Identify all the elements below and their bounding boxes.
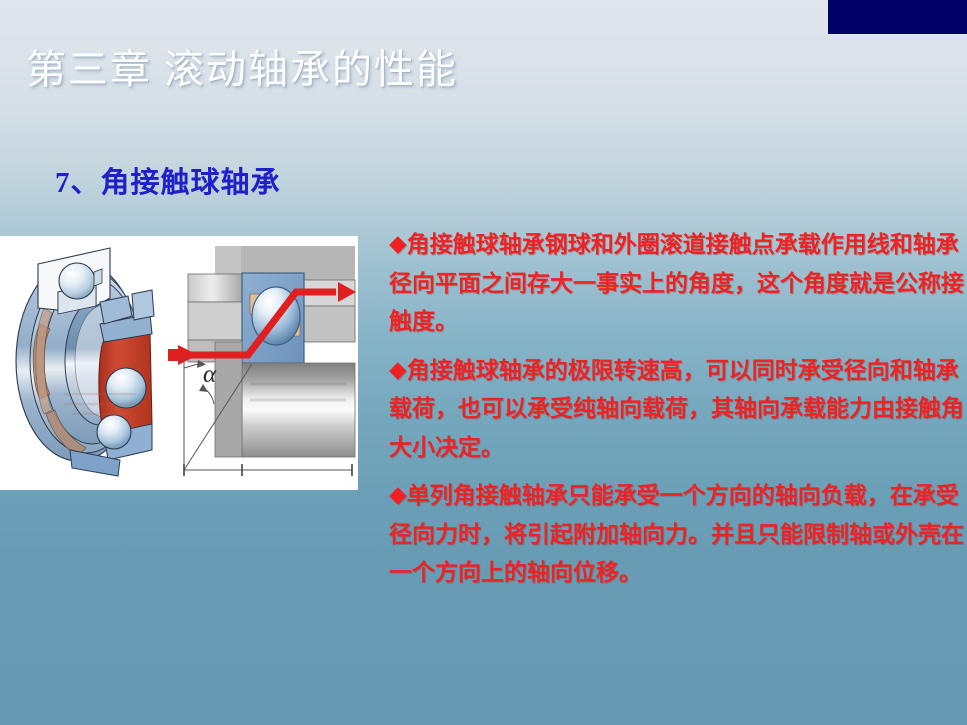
bearing-figure-svg: α (0, 236, 358, 490)
diamond-bullet-icon: ◆ (389, 225, 407, 264)
bullet-paragraph-3-text: 单列角接触轴承只能承受一个方向的轴向负载，在承受径向力时，将引起附加轴向力。并且… (389, 483, 964, 585)
body-text-block: ◆角接触球轴承钢球和外圈滚道接触点承载作用线和轴承径向平面之间存大一事实上的角度… (389, 226, 967, 593)
bearing-figure: α (0, 236, 358, 490)
bullet-paragraph-2: ◆角接触球轴承的极限转速高，可以同时承受径向和轴承载荷，也可以承受纯轴向载荷，其… (389, 352, 967, 468)
section-heading: 7、角接触球轴承 (55, 164, 281, 202)
contact-angle-label: α (203, 361, 217, 388)
diamond-bullet-icon: ◆ (389, 351, 407, 390)
navy-accent-block (828, 0, 967, 34)
shaft (242, 363, 355, 457)
ball-middle (106, 368, 146, 408)
bullet-paragraph-2-text: 角接触球轴承的极限转速高，可以同时承受径向和轴承载荷，也可以承受纯轴向载荷，其轴… (389, 358, 964, 460)
ball-lower (97, 415, 131, 449)
bullet-paragraph-1: ◆角接触球轴承钢球和外圈滚道接触点承载作用线和轴承径向平面之间存大一事实上的角度… (389, 226, 967, 342)
bullet-paragraph-1-text: 角接触球轴承钢球和外圈滚道接触点承载作用线和轴承径向平面之间存大一事实上的角度，… (389, 232, 964, 334)
ball-top (59, 263, 95, 299)
page-title: 第三章 滚动轴承的性能 (26, 44, 458, 96)
diamond-bullet-icon: ◆ (389, 476, 407, 515)
bullet-paragraph-3: ◆单列角接触轴承只能承受一个方向的轴向负载，在承受径向力时，将引起附加轴向力。并… (389, 477, 967, 593)
slide-canvas: 第三章 滚动轴承的性能 7、角接触球轴承 (0, 0, 967, 725)
